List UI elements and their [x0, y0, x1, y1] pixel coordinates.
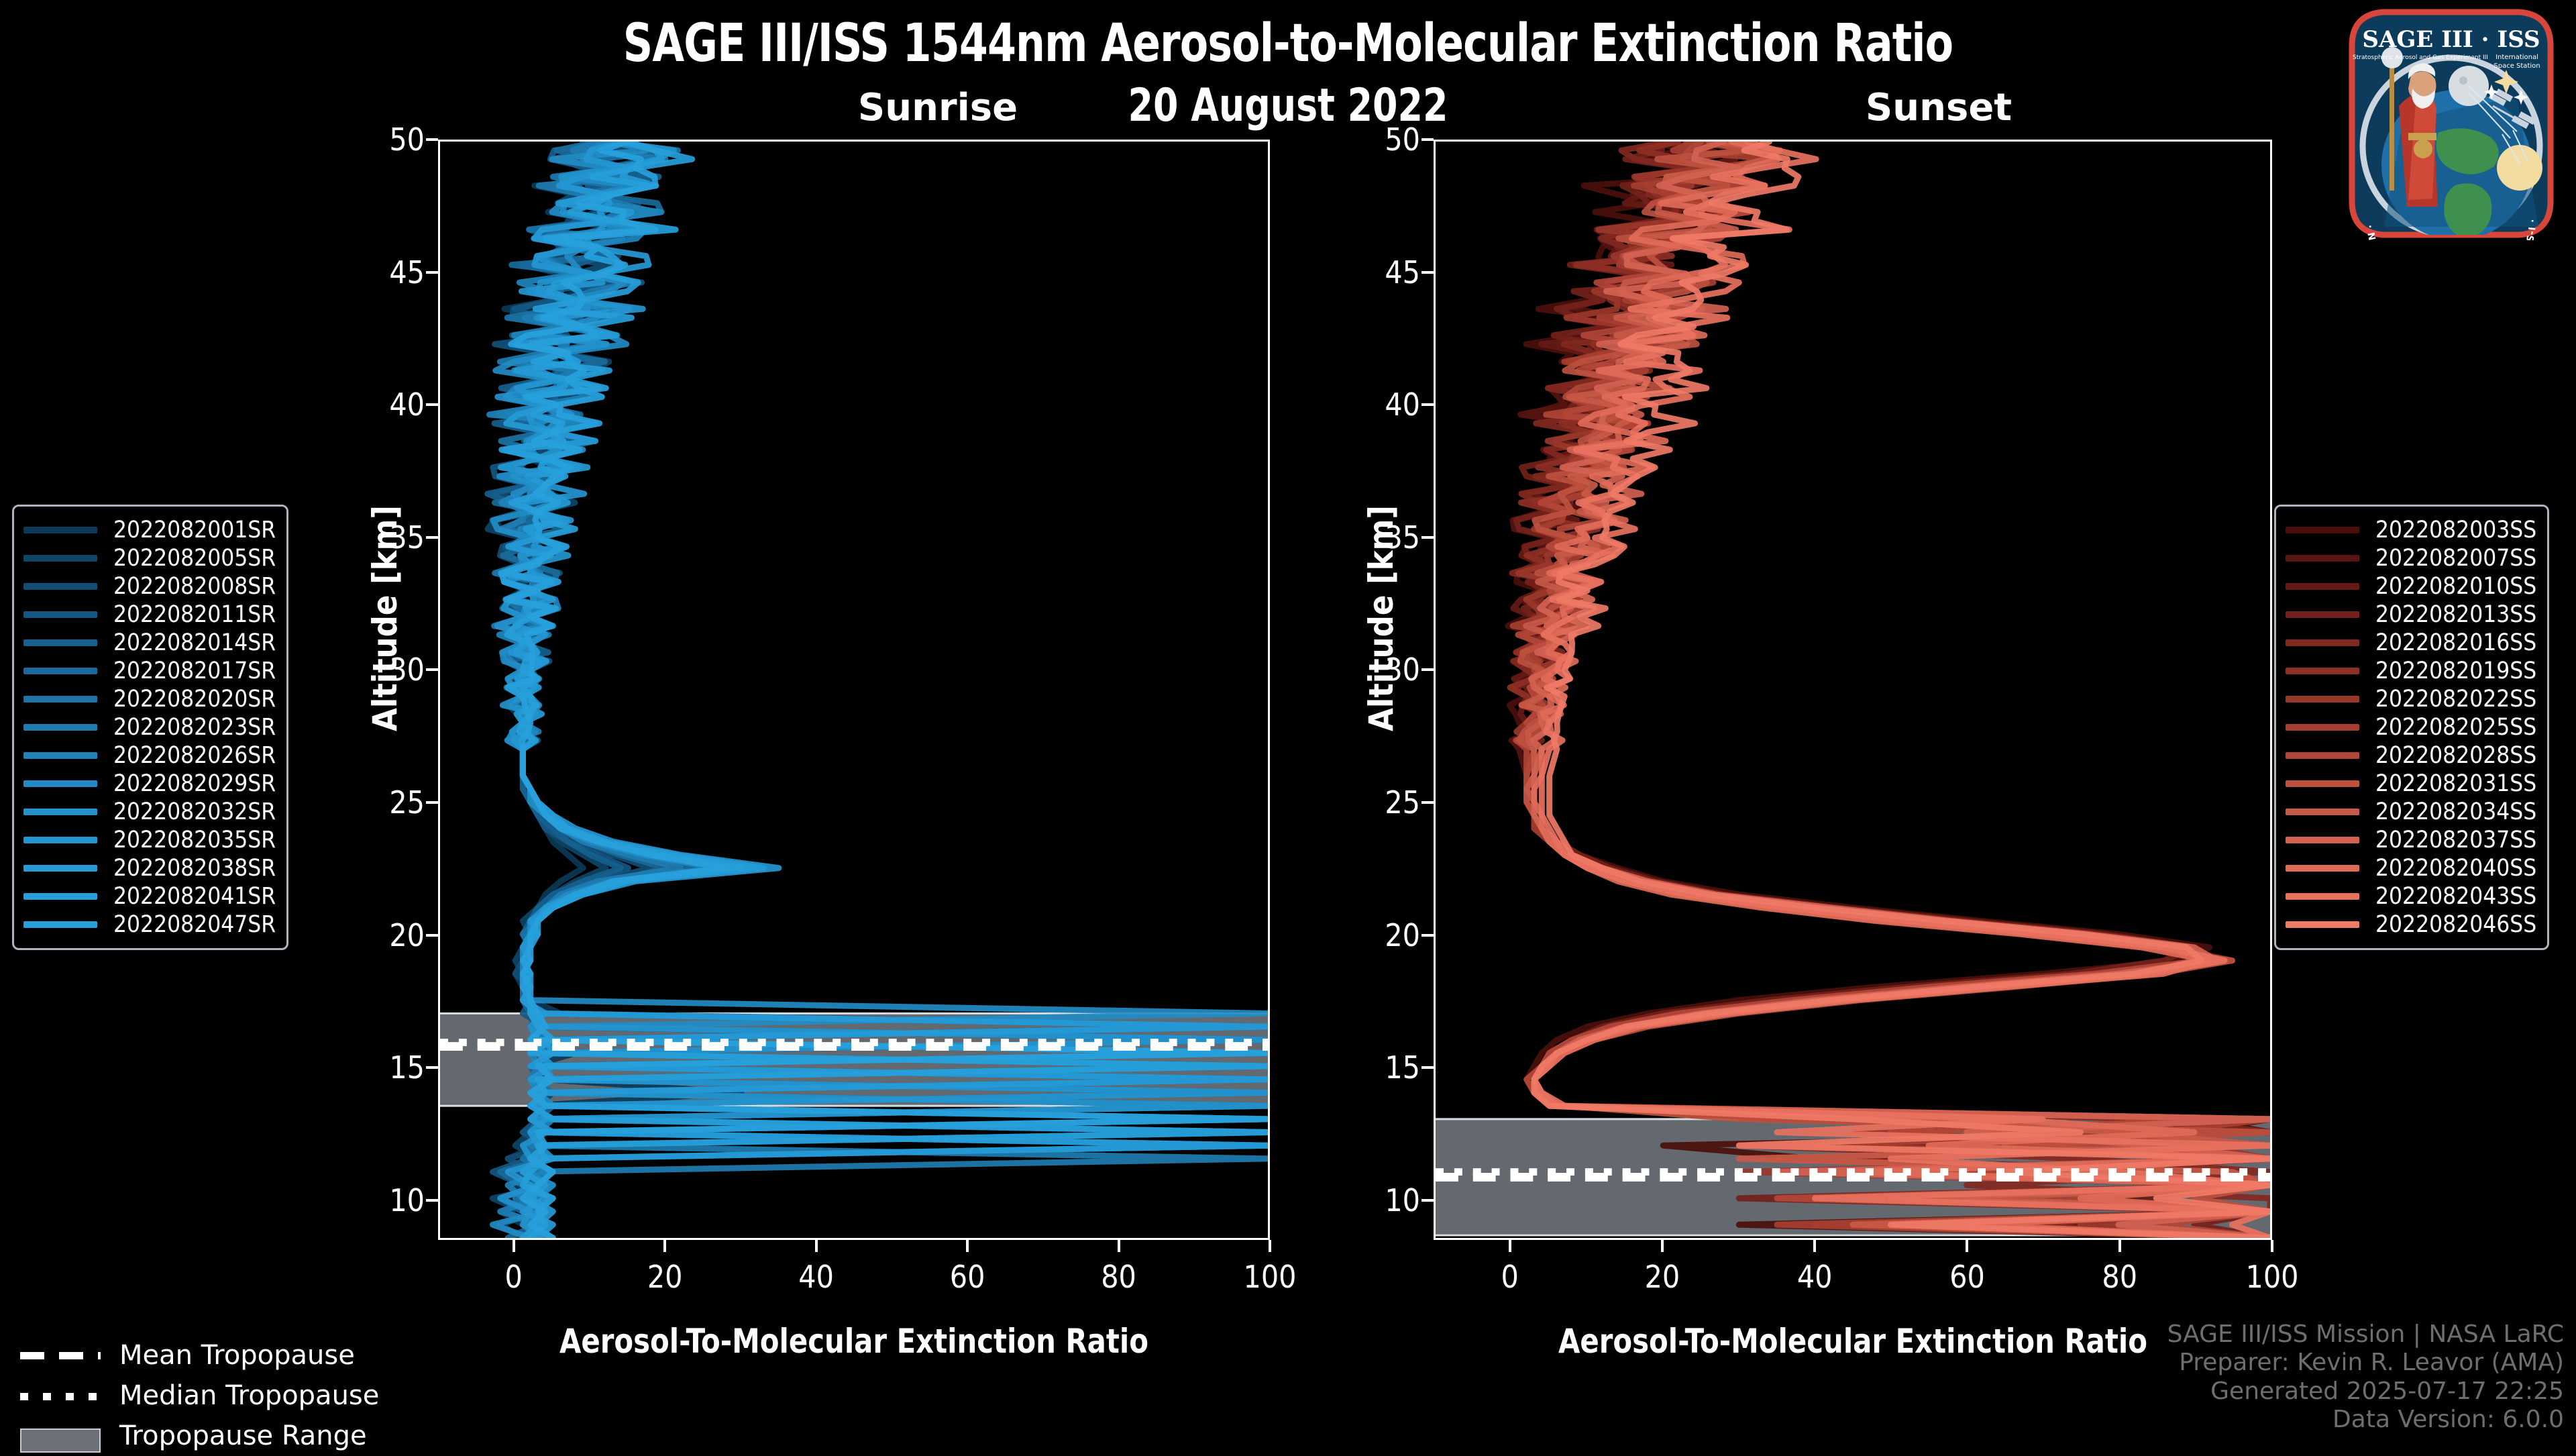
legend-color-swatch [2286, 893, 2359, 900]
legend-color-swatch [23, 611, 97, 618]
x-tick-mark [513, 1240, 515, 1252]
patch-subtitle-left: Stratospheric Aerosol and Gas Experiment… [2353, 54, 2488, 61]
legend-color-swatch [2286, 837, 2359, 843]
y-tick-mark [426, 271, 438, 274]
legend-item-label: 2022082011SR [113, 601, 276, 628]
legend-item-label: 2022082041SR [113, 883, 276, 910]
sunset-profile-chart [1436, 142, 2270, 1238]
y-tick-mark [426, 668, 438, 671]
y-tick-label: 50 [351, 121, 425, 158]
legend-item-label: 2022082026SR [113, 742, 276, 769]
x-tick-mark [663, 1240, 666, 1252]
legend-item[interactable]: 2022082007SS [2286, 544, 2536, 572]
legend-color-swatch [2286, 527, 2359, 533]
y-tick-mark [426, 536, 438, 539]
legend-color-swatch [2286, 611, 2359, 618]
legend-color-swatch [2286, 555, 2359, 562]
legend-item-label: 2022082022SS [2375, 686, 2536, 713]
legend-item[interactable]: 2022082017SR [23, 657, 276, 685]
x-tick-label: 40 [1768, 1259, 1862, 1295]
median-tropopause-label: Median Tropopause [119, 1380, 379, 1411]
y-tick-label: 20 [1346, 917, 1420, 953]
x-tick-mark [2271, 1240, 2273, 1252]
profile-line [1510, 142, 2270, 1238]
legend-item-median-tropopause: Median Tropopause [20, 1375, 379, 1416]
legend-item-label: 2022082028SS [2375, 742, 2536, 769]
x-tick-mark [1661, 1240, 1664, 1252]
legend-item[interactable]: 2022082037SS [2286, 826, 2536, 854]
y-tick-mark [1421, 1066, 1434, 1069]
legend-color-swatch [2286, 752, 2359, 759]
y-tick-mark [426, 1066, 438, 1069]
legend-item[interactable]: 2022082040SS [2286, 854, 2536, 882]
sunrise-panel-title: Sunrise [606, 86, 1270, 129]
y-tick-mark [426, 801, 438, 804]
y-tick-mark [1421, 536, 1434, 539]
y-tick-mark [426, 1199, 438, 1202]
y-tick-label: 40 [1346, 386, 1420, 423]
legend-item[interactable]: 2022082035SR [23, 826, 276, 854]
y-tick-label: 30 [351, 652, 425, 688]
legend-item-label: 2022082013SS [2375, 601, 2536, 628]
legend-item[interactable]: 2022082041SR [23, 882, 276, 911]
legend-item-label: 2022082034SS [2375, 798, 2536, 825]
legend-item-label: 2022082007SS [2375, 545, 2536, 572]
staff [2390, 63, 2394, 191]
sunset-x-axis-label: Aerosol-To-Molecular Extinction Ratio [1463, 1322, 2243, 1361]
patch-subtitle-right-1: International [2495, 54, 2538, 61]
legend-item[interactable]: 2022082026SR [23, 741, 276, 770]
legend-color-swatch [23, 724, 97, 731]
x-tick-label: 60 [1920, 1259, 2014, 1295]
legend-item-label: 2022082038SR [113, 855, 276, 882]
legend-color-swatch [2286, 583, 2359, 590]
legend-item[interactable]: 2022082010SS [2286, 572, 2536, 601]
y-tick-label: 20 [351, 917, 425, 953]
legend-item-label: 2022082016SS [2375, 629, 2536, 656]
sunrise-plot-area [438, 140, 1270, 1240]
x-tick-label: 80 [1072, 1259, 1166, 1295]
legend-item[interactable]: 2022082038SR [23, 854, 276, 882]
x-tick-label: 100 [2225, 1259, 2319, 1295]
tropopause-range-label: Tropopause Range [119, 1420, 367, 1451]
patch-subtitle-right-2: Space Station [2493, 62, 2540, 70]
x-tick-label: 40 [769, 1259, 863, 1295]
legend-item-label: 2022082040SS [2375, 855, 2536, 882]
patch-title: SAGE III · ISS [2362, 26, 2540, 53]
y-tick-mark [1421, 138, 1434, 141]
x-tick-label: 100 [1223, 1259, 1317, 1295]
sunrise-profile-chart [440, 142, 1268, 1238]
legend-color-swatch [23, 668, 97, 674]
y-tick-label: 45 [351, 254, 425, 291]
robed-figure [2381, 47, 2438, 207]
legend-item[interactable]: 2022082031SS [2286, 770, 2536, 798]
legend-item[interactable]: 2022082001SR [23, 516, 276, 544]
legend-item[interactable]: 2022082020SR [23, 685, 276, 713]
legend-item-label: 2022082032SR [113, 798, 276, 825]
attribution-block: SAGE III/ISS Mission | NASA LaRC Prepare… [2167, 1320, 2564, 1435]
x-tick-label: 0 [467, 1259, 561, 1295]
legend-item-label: 2022082037SS [2375, 827, 2536, 853]
legend-color-swatch [2286, 780, 2359, 787]
sage-iii-iss-mission-patch-logo: SAGE III · ISS Stratospheric Aerosol and… [2337, 5, 2565, 240]
y-tick-label: 10 [351, 1182, 425, 1218]
attribution-preparer: Preparer: Kevin R. Leavor (AMA) [2167, 1349, 2564, 1377]
legend-color-swatch [23, 780, 97, 787]
y-tick-label: 10 [1346, 1182, 1420, 1218]
legend-color-swatch [23, 555, 97, 562]
legend-item[interactable]: 2022082014SR [23, 629, 276, 657]
legend-color-swatch [23, 752, 97, 759]
x-tick-mark [1813, 1240, 1816, 1252]
legend-item-label: 2022082023SR [113, 714, 276, 741]
legend-item-label: 2022082008SR [113, 573, 276, 600]
x-tick-mark [2118, 1240, 2121, 1252]
x-tick-mark [1966, 1240, 1968, 1252]
legend-item-label: 2022082003SS [2375, 517, 2536, 543]
legend-color-swatch [23, 809, 97, 815]
sunset-legend[interactable]: 2022082003SS2022082007SS2022082010SS2022… [2274, 505, 2549, 950]
legend-color-swatch [2286, 724, 2359, 731]
legend-item[interactable]: 2022082019SS [2286, 657, 2536, 685]
legend-item-label: 2022082014SR [113, 629, 276, 656]
legend-item-mean-tropopause: Mean Tropopause [20, 1335, 379, 1375]
x-tick-label: 0 [1463, 1259, 1557, 1295]
x-tick-label: 20 [1615, 1259, 1709, 1295]
y-tick-label: 50 [1346, 121, 1420, 158]
y-tick-mark [1421, 403, 1434, 406]
legend-item-label: 2022082001SR [113, 517, 276, 543]
legend-item-label: 2022082025SS [2375, 714, 2536, 741]
legend-item[interactable]: 2022082003SS [2286, 516, 2536, 544]
x-tick-mark [966, 1240, 969, 1252]
y-tick-label: 35 [1346, 519, 1420, 556]
legend-item-label: 2022082019SS [2375, 658, 2536, 684]
legend-item-label: 2022082005SR [113, 545, 276, 572]
legend-color-swatch [23, 893, 97, 900]
x-tick-label: 20 [618, 1259, 712, 1295]
legend-color-swatch [2286, 921, 2359, 928]
legend-item[interactable]: 2022082011SR [23, 601, 276, 629]
mean-tropopause-label: Mean Tropopause [119, 1340, 355, 1371]
sunrise-legend[interactable]: 2022082001SR2022082005SR2022082008SR2022… [12, 505, 288, 950]
legend-item[interactable]: 2022082022SS [2286, 685, 2536, 713]
legend-color-swatch [2286, 668, 2359, 674]
legend-item[interactable]: 2022082028SS [2286, 741, 2536, 770]
filled-band-icon [20, 1427, 101, 1445]
moon-crater [2459, 76, 2467, 85]
legend-item-label: 2022082043SS [2375, 883, 2536, 910]
profile-line [1534, 142, 2270, 1238]
legend-item[interactable]: 2022082032SR [23, 798, 276, 826]
y-tick-mark [1421, 271, 1434, 274]
legend-item-label: 2022082017SR [113, 658, 276, 684]
y-tick-mark [1421, 1199, 1434, 1202]
x-tick-mark [1509, 1240, 1511, 1252]
y-tick-label: 25 [351, 784, 425, 821]
legend-color-swatch [23, 696, 97, 703]
legend-color-swatch [2286, 696, 2359, 703]
attribution-data-version: Data Version: 6.0.0 [2167, 1406, 2564, 1434]
y-tick-mark [1421, 801, 1434, 804]
legend-color-swatch [2286, 865, 2359, 872]
x-tick-label: 60 [920, 1259, 1014, 1295]
belt-medallion [2414, 140, 2432, 158]
legend-item-label: 2022082020SR [113, 686, 276, 713]
y-tick-mark [1421, 934, 1434, 937]
legend-item-label: 2022082031SS [2375, 770, 2536, 797]
dashed-line-icon [20, 1347, 101, 1364]
dotted-line-icon [20, 1387, 101, 1404]
legend-item[interactable]: 2022082008SR [23, 572, 276, 601]
y-tick-label: 15 [1346, 1049, 1420, 1086]
legend-item-tropopause-range: Tropopause Range [20, 1416, 379, 1456]
legend-item[interactable]: 2022082047SR [23, 911, 276, 939]
sunrise-x-axis-label: Aerosol-To-Molecular Extinction Ratio [467, 1322, 1240, 1361]
sunset-panel-title: Sunset [1607, 86, 2271, 129]
legend-item[interactable]: 2022082023SR [23, 713, 276, 741]
legend-color-swatch [23, 583, 97, 590]
legend-item[interactable]: 2022082005SR [23, 544, 276, 572]
legend-item[interactable]: 2022082016SS [2286, 629, 2536, 657]
legend-item-label: 2022082010SS [2375, 573, 2536, 600]
legend-item[interactable]: 2022082029SR [23, 770, 276, 798]
y-tick-mark [426, 934, 438, 937]
sun [2497, 145, 2542, 191]
x-tick-label: 80 [2073, 1259, 2167, 1295]
x-tick-mark [1269, 1240, 1271, 1252]
y-tick-label: 35 [351, 519, 425, 556]
legend-item-label: 2022082035SR [113, 827, 276, 853]
legend-color-swatch [23, 921, 97, 928]
sunset-plot-area [1434, 140, 2272, 1240]
legend-color-swatch [23, 639, 97, 646]
y-tick-label: 40 [351, 386, 425, 423]
attribution-mission: SAGE III/ISS Mission | NASA LaRC [2167, 1320, 2564, 1349]
y-tick-label: 45 [1346, 254, 1420, 291]
y-tick-label: 15 [351, 1049, 425, 1086]
legend-item[interactable]: 2022082025SS [2286, 713, 2536, 741]
legend-color-swatch [23, 865, 97, 872]
x-tick-mark [815, 1240, 818, 1252]
attribution-generated: Generated 2025-07-17 22:25 [2167, 1377, 2564, 1406]
y-tick-mark [426, 138, 438, 141]
legend-color-swatch [2286, 809, 2359, 815]
legend-item-label: 2022082046SS [2375, 911, 2536, 938]
legend-color-swatch [23, 837, 97, 843]
y-tick-mark [1421, 668, 1434, 671]
legend-item-label: 2022082029SR [113, 770, 276, 797]
belt [2408, 133, 2436, 140]
tropopause-legend: Mean Tropopause Median Tropopause Tropop… [20, 1335, 379, 1456]
page-title: SAGE III/ISS 1544nm Aerosol-to-Molecular… [154, 13, 2421, 74]
legend-item[interactable]: 2022082013SS [2286, 601, 2536, 629]
y-tick-label: 30 [1346, 652, 1420, 688]
legend-item[interactable]: 2022082043SS [2286, 882, 2536, 911]
y-tick-mark [426, 403, 438, 406]
legend-item[interactable]: 2022082046SS [2286, 911, 2536, 939]
x-tick-mark [1118, 1240, 1120, 1252]
legend-color-swatch [23, 527, 97, 533]
legend-item[interactable]: 2022082034SS [2286, 798, 2536, 826]
y-tick-label: 25 [1346, 784, 1420, 821]
legend-color-swatch [2286, 639, 2359, 646]
legend-item-label: 2022082047SR [113, 911, 276, 938]
